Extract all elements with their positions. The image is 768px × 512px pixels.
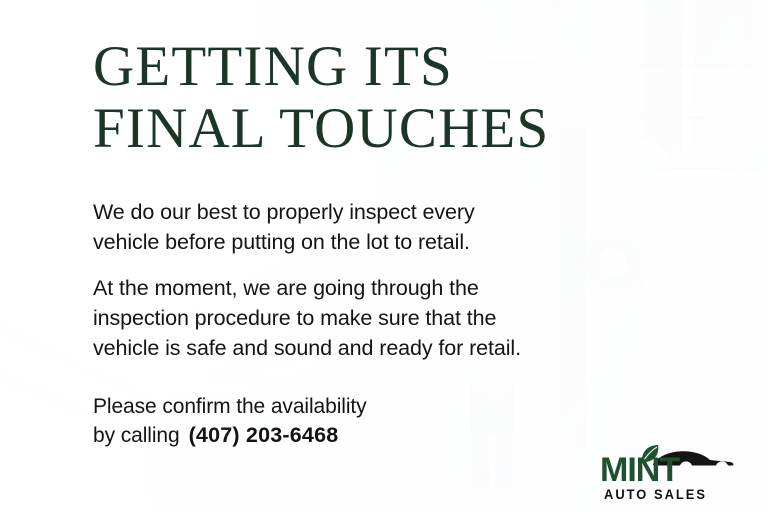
callout-line-2: by calling(407) 203-6468 (93, 421, 613, 450)
headline: GETTING ITS FINAL TOUCHES (93, 36, 733, 160)
phone-number[interactable]: (407) 203-6468 (189, 423, 339, 447)
promo-card: GETTING ITS FINAL TOUCHES We do our best… (0, 0, 768, 512)
callout-calling-label: by calling (93, 424, 180, 447)
logo-tagline: AUTO SALES (604, 487, 707, 501)
paragraph-1: We do our best to properly inspect every… (93, 197, 663, 257)
availability-callout: Please confirm the availability by calli… (93, 393, 613, 450)
callout-line-1: Please confirm the availability (93, 393, 613, 421)
card-content: GETTING ITS FINAL TOUCHES We do our best… (0, 0, 768, 512)
paragraph-2: At the moment, we are going through the … (93, 273, 663, 363)
body-copy: We do our best to properly inspect every… (93, 197, 663, 363)
headline-line-2: FINAL TOUCHES (93, 98, 733, 160)
headline-line-1: GETTING ITS (93, 36, 733, 98)
mint-auto-sales-logo[interactable]: MINT AUTO SALES (596, 441, 736, 503)
logo-wordmark: MINT (600, 453, 679, 487)
